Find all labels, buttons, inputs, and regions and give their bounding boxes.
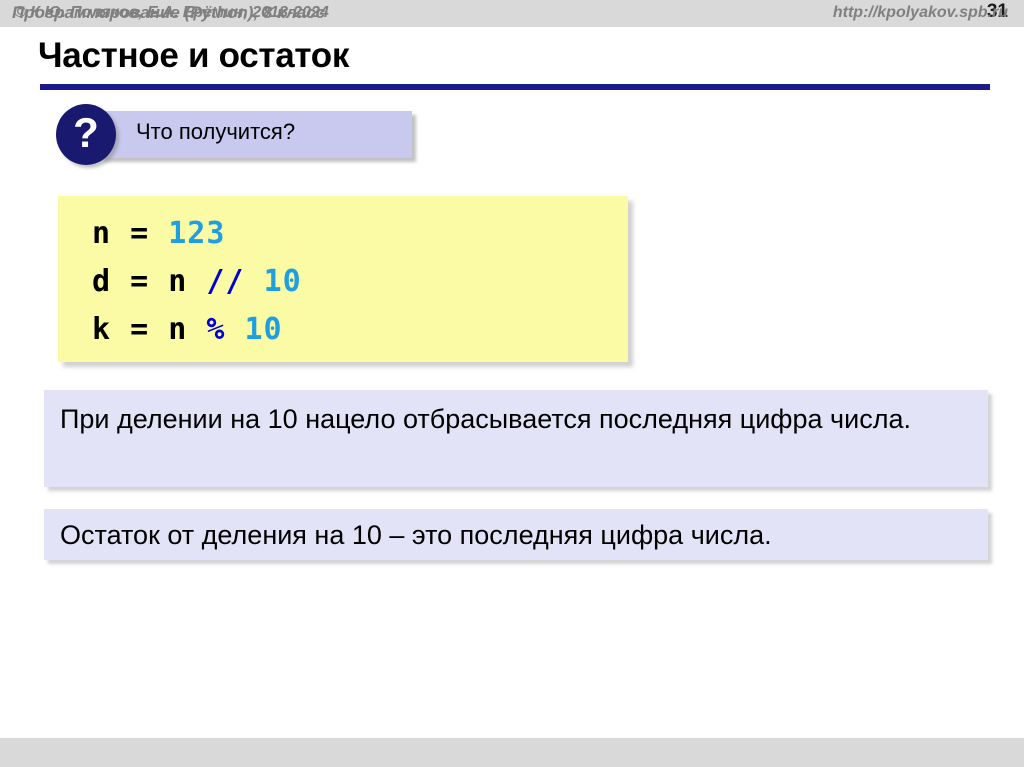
question-box: Что получится?: [100, 111, 412, 158]
code-block: n = 123 d = n // 10 k = n % 10: [58, 196, 628, 362]
code-line-2-operator: //: [206, 264, 244, 299]
question-mark-glyph: ?: [56, 104, 116, 165]
note-box-remainder: Остаток от деления на 10 – это последняя…: [44, 509, 988, 560]
code-line-2: d = n // 10: [92, 258, 628, 306]
code-line-1-number: 123: [168, 216, 225, 251]
code-line-2-number: 10: [264, 264, 302, 299]
page-title: Частное и остаток: [38, 36, 349, 76]
code-line-3: k = n % 10: [92, 306, 628, 354]
code-line-3-space: [225, 312, 244, 347]
note-box-quotient: При делении на 10 нацело отбрасывается п…: [44, 390, 988, 487]
footer-url[interactable]: http://kpolyakov.spb.ru: [833, 4, 1008, 22]
code-line-2-prefix: d = n: [92, 264, 206, 299]
footer-band: [0, 738, 1024, 767]
code-line-1: n = 123: [92, 210, 628, 258]
code-line-2-space: [245, 264, 264, 299]
question-callout: Что получится? ?: [56, 104, 416, 166]
note-text-remainder: Остаток от деления на 10 – это последняя…: [60, 517, 972, 553]
footer-copyright: © К.Ю. Поляков, Е.А. Ерёмин, 2018-2024: [14, 4, 329, 22]
question-mark-icon: ?: [56, 104, 116, 165]
code-line-3-operator: %: [206, 312, 225, 347]
code-line-3-number: 10: [245, 312, 283, 347]
note-text-quotient: При делении на 10 нацело отбрасывается п…: [60, 400, 972, 438]
title-divider: [40, 84, 990, 90]
code-line-1-prefix: n =: [92, 216, 168, 251]
code-line-3-prefix: k = n: [92, 312, 206, 347]
question-label: Что получится?: [136, 119, 295, 145]
